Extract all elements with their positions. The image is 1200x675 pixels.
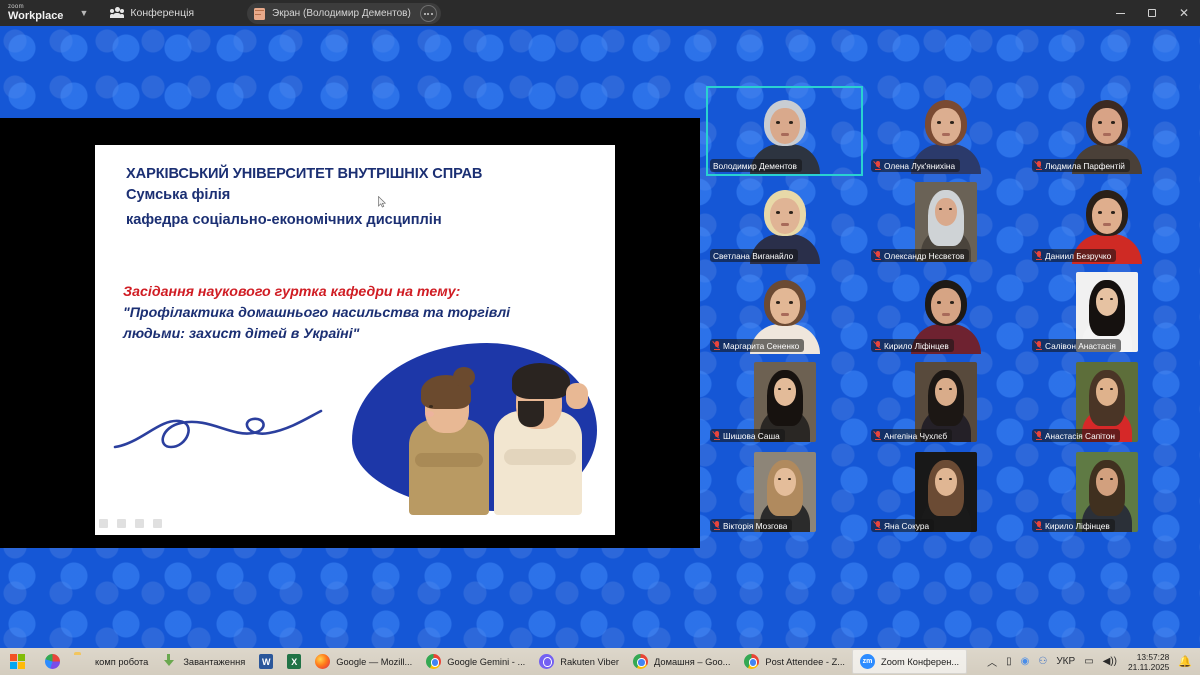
microphone-muted-icon [713,341,720,350]
window-controls: ✕ [1104,0,1200,26]
slide-title: ХАРКІВСЬКИЙ УНІВЕРСИТЕТ ВНУТРІШНІХ СПРАВ [126,166,576,182]
participant-tile[interactable]: Володимир Дементов [708,88,861,174]
slide-theme-intro: Засідання наукового гуртка кафедри на те… [123,282,593,303]
participant-name: Яна Сокура [884,521,929,531]
presentation-annotation-controls[interactable] [99,519,162,528]
people-icon [110,7,124,19]
microphone-icon[interactable]: ⚇ [1038,656,1047,667]
more-options-icon[interactable] [420,5,437,22]
participant-tile[interactable]: Маргарита Сененко [708,268,861,354]
microphone-muted-icon [874,341,881,350]
microphone-muted-icon [1035,521,1042,530]
taskbar-button[interactable]: комп робота [67,649,155,674]
illustration-person-man [490,357,590,515]
excel-icon: X [287,654,301,669]
network-icon[interactable]: ◉ [1021,656,1030,667]
shared-screen-region[interactable]: ХАРКІВСЬКИЙ УНІВЕРСИТЕТ ВНУТРІШНІХ СПРАВ… [0,118,700,548]
participant-grid: Володимир ДементовОлена Лук'янихінаЛюдми… [708,88,1192,588]
zoom-title-bar: zoom Workplace ▼ Конференція Экран (Воло… [0,0,1200,26]
microphone-muted-icon [874,251,881,260]
microphone-muted-icon [874,431,881,440]
participant-name-badge: Светлана Виганайло [710,249,798,262]
participant-tile[interactable]: Анастасія Сапітон [1030,358,1183,444]
slide-illustration [95,355,615,515]
participant-name-badge: Вікторія Мозгова [710,519,792,532]
participant-name: Володимир Дементов [713,161,797,171]
minimize-button[interactable] [1104,0,1136,26]
zoom-tool-icon[interactable] [153,519,162,528]
meeting-stage: ХАРКІВСЬКИЙ УНІВЕРСИТЕТ ВНУТРІШНІХ СПРАВ… [0,26,1200,648]
slide-theme-line1: "Профілактика домашнього насильства та т… [123,303,593,324]
workplace-logo-text: Workplace [8,11,63,22]
participant-name-badge: Салівон Анастасія [1032,339,1121,352]
zoom-workplace-logo: zoom Workplace [8,4,63,22]
clock[interactable]: 13:57:28 21.11.2025 [1128,652,1169,672]
participant-name-badge: Кирило Ліфінцев [871,339,954,352]
participant-tile[interactable]: Яна Сокура [869,448,1022,534]
participant-tile[interactable]: Людмила Парфентій [1030,88,1183,174]
display-icon[interactable]: ▭ [1084,656,1093,667]
participant-name-badge: Ангеліна Чухлєб [871,429,952,442]
zoom-icon: zm [860,654,875,669]
screen-share-label: Экран (Володимир Дементов) [272,8,411,19]
illustration-person-woman [403,365,495,515]
participant-tile[interactable]: Шишова Саша [708,358,861,444]
taskbar-button[interactable]: W [252,649,280,674]
microphone-muted-icon [1035,341,1042,350]
taskbar-button[interactable]: Google — Mozill... [308,649,419,674]
chevron-down-icon[interactable]: ▼ [79,8,88,18]
participant-name: Вікторія Мозгова [723,521,787,531]
pen-tool-icon[interactable] [117,519,126,528]
chrome-icon [426,654,441,669]
slide-subtitle-branch: Сумська філія [126,187,230,203]
taskbar-button[interactable]: X [280,649,308,674]
battery-icon[interactable]: ▯ [1006,656,1012,667]
participant-name: Анастасія Сапітон [1045,431,1115,441]
screen-share-indicator[interactable]: Экран (Володимир Дементов) [247,3,441,24]
language-indicator[interactable]: УКР [1056,656,1075,667]
presentation-slide: ХАРКІВСЬКИЙ УНІВЕРСИТЕТ ВНУТРІШНІХ СПРАВ… [95,145,615,535]
taskbar-button-label: Rakuten Viber [560,657,619,667]
mouse-cursor-icon [378,196,386,208]
participant-name-badge: Анастасія Сапітон [1032,429,1120,442]
taskbar-button[interactable]: Google Gemini - ... [419,649,532,674]
participant-name-badge: Олександр Нєсвєтов [871,249,969,262]
participant-name: Шишова Саша [723,431,780,441]
windows-start-icon [10,654,25,669]
slide-menu-icon[interactable] [135,519,144,528]
participant-name-badge: Яна Сокура [871,519,934,532]
maximize-button[interactable] [1136,0,1168,26]
taskbar-button[interactable]: Завантаження [155,649,252,674]
volume-icon[interactable]: ◀)) [1103,656,1117,667]
participant-tile[interactable]: Кирило Ліфінцев [869,268,1022,354]
close-button[interactable]: ✕ [1168,0,1200,26]
participant-tile[interactable]: Кирило Ліфінцев [1030,448,1183,534]
microphone-muted-icon [1035,161,1042,170]
screen-share-icon [254,8,265,20]
taskbar-button[interactable] [38,649,67,674]
participant-name: Кирило Ліфінцев [884,341,949,351]
system-tray: ︿ ▯ ◉ ⚇ УКР ▭ ◀)) 13:57:28 21.11.2025 🔔 [987,648,1192,675]
participant-name-badge: Маргарита Сененко [710,339,804,352]
microphone-muted-icon [1035,431,1042,440]
taskbar-button[interactable]: zmZoom Конферен... [852,649,967,674]
tab-meeting[interactable]: Конференція [110,7,194,19]
taskbar-button-label: Завантаження [183,657,245,667]
participant-tile[interactable]: Даниил Безручко [1030,178,1183,264]
microphone-muted-icon [713,431,720,440]
participant-name: Людмила Парфентій [1045,161,1125,171]
clock-date: 21.11.2025 [1128,662,1169,672]
participant-name-badge: Олена Лук'янихіна [871,159,960,172]
tab-meeting-label: Конференція [130,7,194,19]
microphone-muted-icon [874,521,881,530]
taskbar-button-label: Zoom Конферен... [881,657,959,667]
participant-tile[interactable]: Ангеліна Чухлєб [869,358,1022,444]
word-icon: W [259,654,273,669]
participant-name: Даниил Безручко [1045,251,1111,261]
participant-name: Салівон Анастасія [1045,341,1116,351]
participant-name: Маргарита Сененко [723,341,799,351]
taskbar-button[interactable]: Домашня – Goo... [626,649,737,674]
microphone-muted-icon [1035,251,1042,260]
participant-tile[interactable]: Олена Лук'янихіна [869,88,1022,174]
pwa-app-icon [45,654,60,669]
participant-name: Олена Лук'янихіна [884,161,955,171]
slide-theme-line2: людьми: захист дітей в Україні" [123,324,593,345]
tray-expand-icon[interactable]: ︿ [987,654,997,669]
participant-name-badge: Людмила Парфентій [1032,159,1130,172]
chrome-icon [633,654,648,669]
slide-theme-block: Засідання наукового гуртка кафедри на те… [123,282,593,345]
participant-name: Ангеліна Чухлєб [884,431,947,441]
clock-time: 13:57:28 [1128,652,1169,662]
slide-subtitle-department: кафедра соціально-економічних дисциплін [126,212,442,228]
participant-tile[interactable]: Салівон Анастасія [1030,268,1183,354]
chrome-icon [744,654,759,669]
windows-taskbar: комп роботаЗавантаженняWXGoogle — Mozill… [0,648,1200,675]
participant-name: Олександр Нєсвєтов [884,251,964,261]
pointer-tool-icon[interactable] [99,519,108,528]
firefox-icon [315,654,330,669]
taskbar-button[interactable]: Rakuten Viber [532,649,626,674]
microphone-muted-icon [713,521,720,530]
participant-name: Кирило Ліфінцев [1045,521,1110,531]
microphone-muted-icon [874,161,881,170]
taskbar-button-label: комп робота [95,657,148,667]
participant-tile[interactable]: Вікторія Мозгова [708,448,861,534]
taskbar-button-label: Post Attendee - Z... [765,657,845,667]
viber-icon [539,654,554,669]
participant-name-badge: Даниил Безручко [1032,249,1116,262]
participant-name-badge: Шишова Саша [710,429,785,442]
taskbar-button-label: Домашня – Goo... [654,657,730,667]
taskbar-button[interactable]: Post Attendee - Z... [737,649,852,674]
participant-name-badge: Володимир Дементов [710,159,802,172]
participant-name: Светлана Виганайло [713,251,793,261]
taskbar-button-label: Google — Mozill... [336,657,412,667]
participant-tile[interactable]: Олександр Нєсвєтов [869,178,1022,264]
taskbar-button-label: Google Gemini - ... [447,657,525,667]
participant-name-badge: Кирило Ліфінцев [1032,519,1115,532]
taskbar-button[interactable] [3,649,32,674]
notifications-icon[interactable]: 🔔 [1178,655,1192,668]
participant-tile[interactable]: Светлана Виганайло [708,178,861,264]
illustration-squiggle [113,403,323,463]
